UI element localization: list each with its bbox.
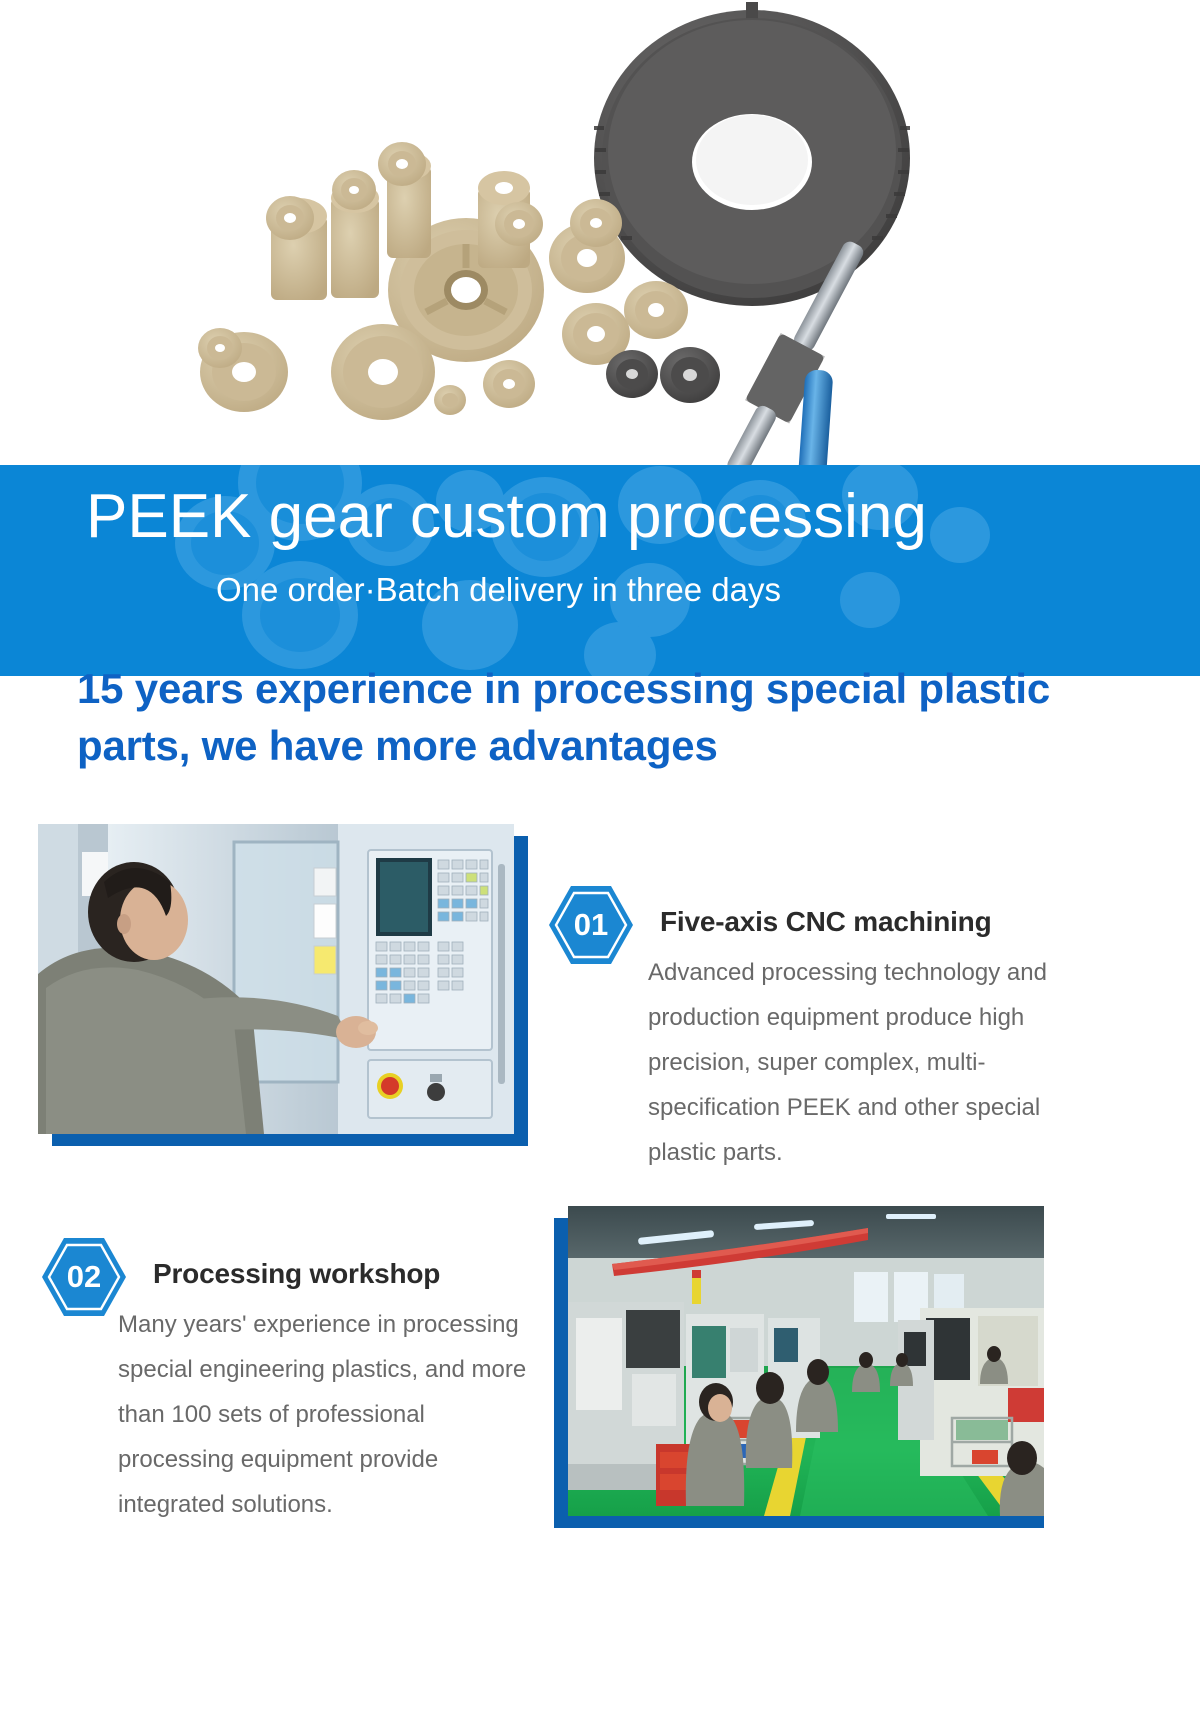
feature-body-02: Many years' experience in processing spe… xyxy=(118,1302,528,1527)
feature-photo-cnc-machining xyxy=(38,824,528,1146)
hero-image xyxy=(0,0,1200,468)
gear-photo-illustration xyxy=(0,0,1200,468)
photo-accent-bottom xyxy=(52,1134,528,1146)
feature-badge-02: 02 xyxy=(40,1236,128,1318)
photo-image xyxy=(38,824,514,1134)
hero-banner: PEEK gear custom processing One order·Ba… xyxy=(0,465,1200,676)
banner-subtitle: One order·Batch delivery in three days xyxy=(216,569,781,611)
feature-badge-number: 01 xyxy=(547,884,635,966)
section-headline: 15 years experience in processing specia… xyxy=(77,660,1097,774)
cnc-operator-illustration xyxy=(38,824,514,1134)
photo-accent-bottom xyxy=(568,1516,1044,1528)
photo-accent-right xyxy=(514,836,528,1146)
feature-badge-01: 01 xyxy=(547,884,635,966)
photo-accent-left xyxy=(554,1218,568,1528)
feature-badge-number: 02 xyxy=(40,1236,128,1318)
photo-image xyxy=(568,1206,1044,1516)
feature-heading-02: Processing workshop xyxy=(153,1258,440,1290)
workshop-illustration xyxy=(568,1206,1044,1516)
feature-photo-workshop xyxy=(554,1206,1044,1528)
feature-heading-01: Five-axis CNC machining xyxy=(660,906,991,938)
feature-body-01: Advanced processing technology and produ… xyxy=(648,950,1078,1175)
banner-title: PEEK gear custom processing xyxy=(86,479,927,555)
